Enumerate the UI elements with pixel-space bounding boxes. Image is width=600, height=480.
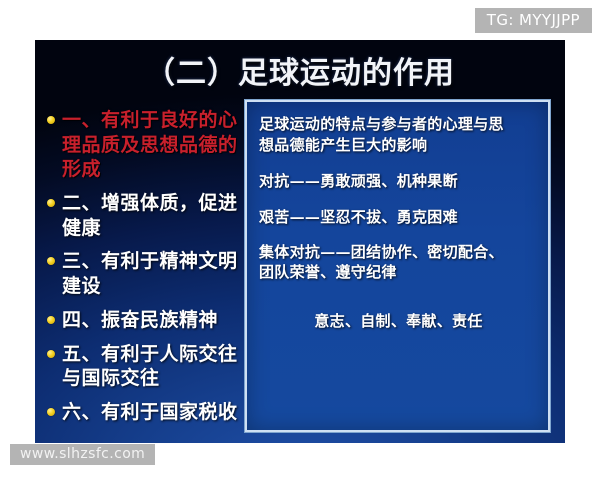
group-line-2: 团队荣誉、遵守纪律	[259, 262, 538, 283]
bullet-dot-icon	[47, 257, 55, 265]
list-item-label: 一、有利于良好的心理品质及思想品德的形成	[62, 108, 252, 182]
list-item-label: 五、有利于人际交往与国际交往	[62, 342, 252, 391]
spacer	[259, 155, 538, 171]
list-item[interactable]: 一、有利于良好的心理品质及思想品德的形成	[47, 108, 252, 182]
quality-pair-1: 对抗——勇敢顽强、机种果断	[259, 171, 538, 192]
spacer	[259, 192, 538, 207]
spacer	[259, 228, 538, 242]
list-item-label: 四、振奋民族精神	[62, 308, 218, 333]
list-item[interactable]: 三、有利于精神文明建设	[47, 249, 252, 298]
presentation-slide: （二）足球运动的作用 一、有利于良好的心理品质及思想品德的形成 二、增强体质，促…	[35, 40, 565, 443]
intro-line-2: 想品德能产生巨大的影响	[259, 135, 538, 156]
bullet-list: 一、有利于良好的心理品质及思想品德的形成 二、增强体质，促进健康 三、有利于精神…	[47, 108, 252, 434]
watermark-top-right: TG: MYYJJPP	[475, 8, 592, 33]
list-item-label: 二、增强体质，促进健康	[62, 191, 252, 240]
group-line-1: 集体对抗——团结协作、密切配合、	[259, 242, 538, 263]
list-item-label: 三、有利于精神文明建设	[62, 249, 252, 298]
list-item[interactable]: 二、增强体质，促进健康	[47, 191, 252, 240]
list-item[interactable]: 六、有利于国家税收	[47, 400, 252, 425]
bullet-dot-icon	[47, 408, 55, 416]
watermark-bottom-left: www.slhzsfc.com	[10, 444, 155, 465]
summary-line: 意志、自制、奉献、责任	[259, 311, 538, 332]
page-title: （二）足球运动的作用	[35, 48, 565, 92]
content-textbox: 足球运动的特点与参与者的心理与思 想品德能产生巨大的影响 对抗——勇敢顽强、机种…	[245, 100, 550, 432]
intro-line-1: 足球运动的特点与参与者的心理与思	[259, 114, 538, 135]
list-item[interactable]: 四、振奋民族精神	[47, 308, 252, 333]
bullet-dot-icon	[47, 199, 55, 207]
list-item-label: 六、有利于国家税收	[62, 400, 238, 425]
bullet-dot-icon	[47, 350, 55, 358]
quality-pair-2: 艰苦——坚忍不拔、勇克困难	[259, 207, 538, 228]
slide-page: （二）足球运动的作用 一、有利于良好的心理品质及思想品德的形成 二、增强体质，促…	[0, 0, 600, 480]
bullet-dot-icon	[47, 316, 55, 324]
bullet-dot-icon	[47, 116, 55, 124]
list-item[interactable]: 五、有利于人际交往与国际交往	[47, 342, 252, 391]
